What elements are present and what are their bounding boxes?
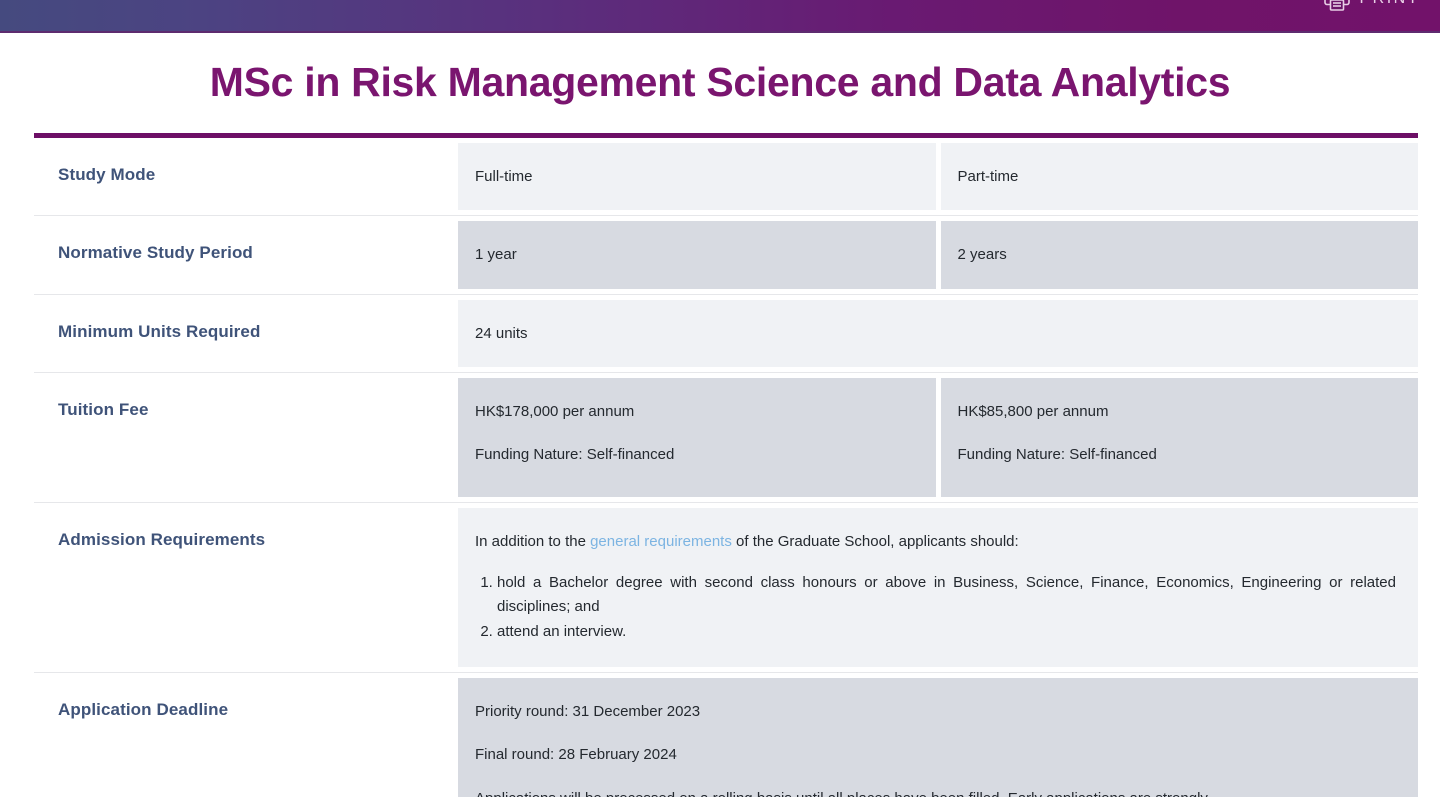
row-values: 24 units <box>458 295 1418 372</box>
table-row: Study Mode Full-time Part-time <box>34 138 1418 216</box>
general-requirements-link[interactable]: general requirements <box>590 533 732 550</box>
table-row: Normative Study Period 1 year 2 years <box>34 216 1418 294</box>
tuition-part-time-funding: Funding Nature: Self-financed <box>958 443 1419 466</box>
row-values: HK$178,000 per annum Funding Nature: Sel… <box>458 373 1418 502</box>
row-label-tuition-fee: Tuition Fee <box>34 373 458 502</box>
cell-minimum-units: 24 units <box>458 300 1418 367</box>
row-values: In addition to the general requirements … <box>458 503 1418 672</box>
table-row: Minimum Units Required 24 units <box>34 295 1418 373</box>
table-row: Application Deadline Priority round: 31 … <box>34 673 1418 797</box>
page-content: MSc in Risk Management Science and Data … <box>0 33 1440 797</box>
row-label-study-mode: Study Mode <box>34 138 458 215</box>
row-label-minimum-units: Minimum Units Required <box>34 295 458 372</box>
row-values: Priority round: 31 December 2023 Final r… <box>458 673 1418 797</box>
cell-tuition-part-time: HK$85,800 per annum Funding Nature: Self… <box>941 378 1419 497</box>
admission-intro: In addition to the general requirements … <box>475 530 1418 553</box>
tuition-full-time-funding: Funding Nature: Self-financed <box>475 443 936 466</box>
programme-details-table: Study Mode Full-time Part-time Normative… <box>34 138 1418 797</box>
print-button[interactable]: PRINT <box>1323 0 1421 12</box>
admission-intro-before: In addition to the <box>475 533 590 550</box>
row-values: 1 year 2 years <box>458 216 1418 293</box>
row-label-application-deadline: Application Deadline <box>34 673 458 797</box>
print-label: PRINT <box>1360 0 1421 8</box>
table-row: Tuition Fee HK$178,000 per annum Funding… <box>34 373 1418 503</box>
list-item: attend an interview. <box>497 620 1418 644</box>
cell-study-mode-full-time: Full-time <box>458 143 936 210</box>
row-label-normative-study-period: Normative Study Period <box>34 216 458 293</box>
printer-icon <box>1323 0 1351 12</box>
table-row: Admission Requirements In addition to th… <box>34 503 1418 673</box>
list-item: hold a Bachelor degree with second class… <box>497 571 1418 619</box>
cell-period-part-time: 2 years <box>941 221 1419 288</box>
tuition-part-time-amount: HK$85,800 per annum <box>958 400 1419 423</box>
cell-study-mode-part-time: Part-time <box>941 143 1419 210</box>
row-values: Full-time Part-time <box>458 138 1418 215</box>
page-title: MSc in Risk Management Science and Data … <box>0 33 1440 106</box>
deadline-note: Applications will be processed on a roll… <box>475 787 1418 797</box>
cell-admission-requirements: In addition to the general requirements … <box>458 508 1418 667</box>
top-utility-bar: PRINT <box>0 0 1440 31</box>
cell-application-deadline: Priority round: 31 December 2023 Final r… <box>458 678 1418 797</box>
row-label-admission-requirements: Admission Requirements <box>34 503 458 672</box>
deadline-priority-round: Priority round: 31 December 2023 <box>475 700 1418 723</box>
cell-period-full-time: 1 year <box>458 221 936 288</box>
deadline-final-round: Final round: 28 February 2024 <box>475 743 1418 766</box>
admission-intro-after: of the Graduate School, applicants shoul… <box>732 533 1019 550</box>
tuition-full-time-amount: HK$178,000 per annum <box>475 400 936 423</box>
admission-requirements-list: hold a Bachelor degree with second class… <box>475 571 1418 644</box>
cell-tuition-full-time: HK$178,000 per annum Funding Nature: Sel… <box>458 378 936 497</box>
